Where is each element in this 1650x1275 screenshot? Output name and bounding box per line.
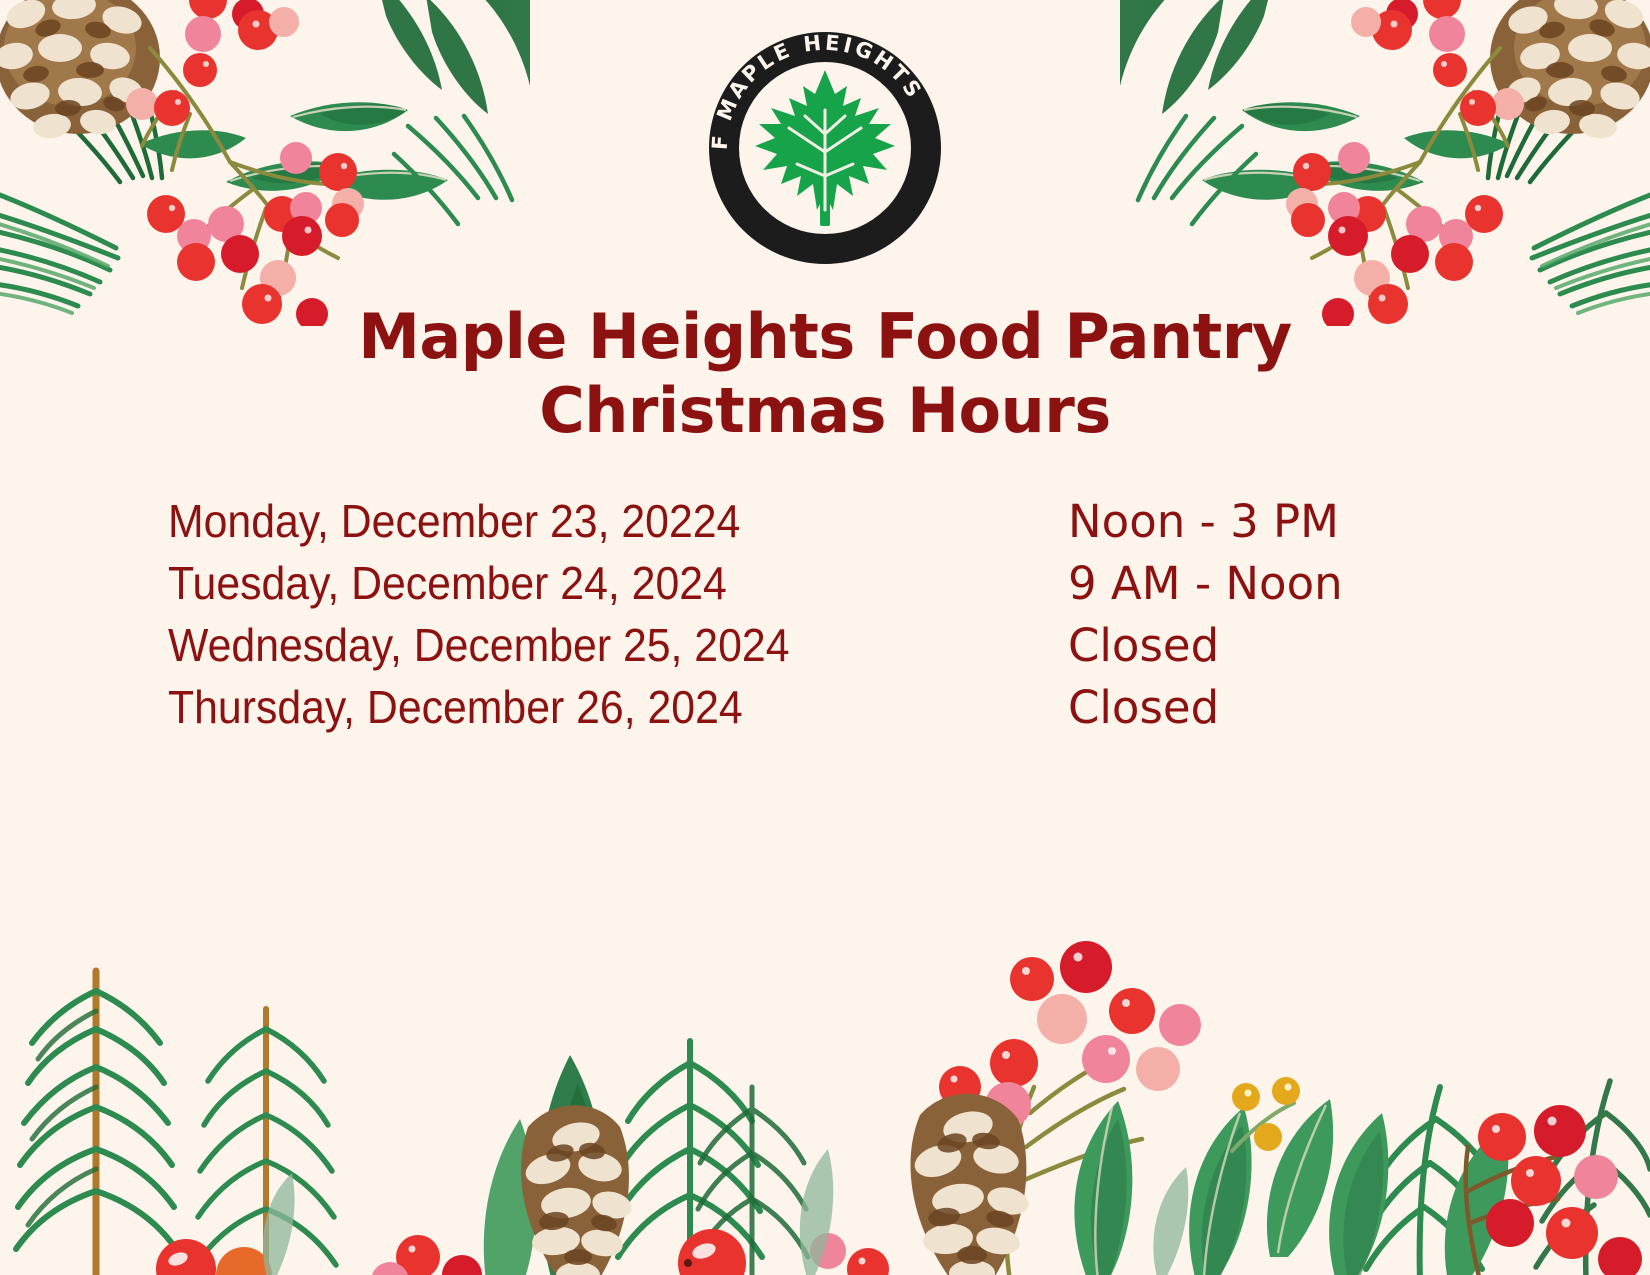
hours-row: Monday, December 23, 20224 Noon - 3 PM xyxy=(168,492,1448,554)
hours-day-label: Thursday, December 26, 2024 xyxy=(168,678,986,736)
hours-row: Wednesday, December 25, 2024 Closed xyxy=(168,616,1448,678)
hours-row: Tuesday, December 24, 2024 9 AM - Noon xyxy=(168,554,1448,616)
hours-time-value: Closed xyxy=(1048,679,1219,737)
hours-time-value: Noon - 3 PM xyxy=(1048,493,1339,551)
hours-day-label: Tuesday, December 24, 2024 xyxy=(168,554,986,612)
page-title: Maple Heights Food Pantry Christmas Hour… xyxy=(0,300,1650,448)
title-line-1: Maple Heights Food Pantry xyxy=(0,300,1650,374)
decoration-top-left xyxy=(0,0,530,326)
flyer-canvas: CITY OF MAPLE HEIGHTS Maple Heights Food… xyxy=(0,0,1650,1275)
hours-time-value: 9 AM - Noon xyxy=(1048,555,1343,613)
city-of-maple-heights-seal: CITY OF MAPLE HEIGHTS xyxy=(701,24,949,272)
hours-day-label: Wednesday, December 25, 2024 xyxy=(168,616,986,674)
hours-time-value: Closed xyxy=(1048,617,1219,675)
decoration-bottom-border xyxy=(0,851,1650,1275)
hours-day-label: Monday, December 23, 20224 xyxy=(168,492,986,550)
decoration-top-right xyxy=(1120,0,1650,326)
hours-row: Thursday, December 26, 2024 Closed xyxy=(168,678,1448,740)
christmas-hours-table: Monday, December 23, 20224 Noon - 3 PM T… xyxy=(168,492,1448,740)
title-line-2: Christmas Hours xyxy=(0,374,1650,448)
